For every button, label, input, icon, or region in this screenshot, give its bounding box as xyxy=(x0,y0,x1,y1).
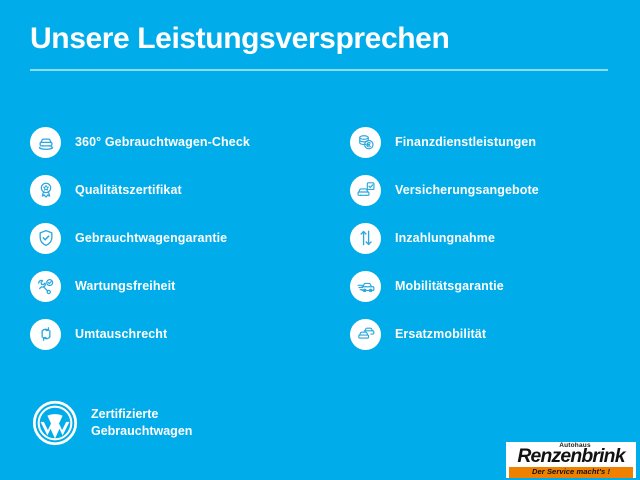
list-item-label: Umtauschrecht xyxy=(75,327,167,341)
promo-banner: Unsere Leistungsversprechen 360° Gebrauc xyxy=(0,0,640,480)
dealer-logo-name: Renzenbrink xyxy=(508,448,634,466)
feature-column-right: Finanzdienstleistungen Versicherungsange… xyxy=(325,118,640,358)
list-item: Wartungsfreiheit xyxy=(30,262,325,310)
car-motion-icon xyxy=(350,271,381,302)
two-cars-icon xyxy=(350,319,381,350)
coins-euro-icon xyxy=(350,127,381,158)
list-item-label: Ersatzmobilität xyxy=(395,327,486,341)
list-item-label: Inzahlungnahme xyxy=(395,231,495,245)
header: Unsere Leistungsversprechen xyxy=(30,22,610,71)
vw-certified-badge: Zertifizierte Gebrauchtwagen xyxy=(32,400,192,446)
wrench-check-icon xyxy=(30,271,61,302)
vw-certified-line1: Zertifizierte xyxy=(91,406,192,423)
vw-certified-text: Zertifizierte Gebrauchtwagen xyxy=(91,406,192,441)
list-item: 360° Gebrauchtwagen-Check xyxy=(30,118,325,166)
dealer-logo-slogan: Der Service macht's ! xyxy=(532,468,610,476)
list-item: Qualitätszertifikat xyxy=(30,166,325,214)
list-item-label: Versicherungsangebote xyxy=(395,183,539,197)
car-clipboard-icon xyxy=(350,175,381,206)
exchange-arrows-icon xyxy=(30,319,61,350)
volkswagen-logo-icon xyxy=(32,400,78,446)
up-down-arrows-icon xyxy=(350,223,381,254)
list-item-label: Qualitätszertifikat xyxy=(75,183,182,197)
shield-check-icon xyxy=(30,223,61,254)
features-section: 360° Gebrauchtwagen-Check Qualitätszerti… xyxy=(0,118,640,358)
list-item-label: Gebrauchtwagengarantie xyxy=(75,231,227,245)
list-item-label: 360° Gebrauchtwagen-Check xyxy=(75,135,250,149)
list-item: Ersatzmobilität xyxy=(350,310,640,358)
list-item-label: Mobilitätsgarantie xyxy=(395,279,504,293)
feature-column-left: 360° Gebrauchtwagen-Check Qualitätszerti… xyxy=(0,118,325,358)
list-item: Umtauschrecht xyxy=(30,310,325,358)
dealer-logo: Autohaus Renzenbrink Der Service macht's… xyxy=(506,442,636,478)
quality-seal-icon xyxy=(30,175,61,206)
title-divider xyxy=(30,69,608,71)
list-item: Inzahlungnahme xyxy=(350,214,640,262)
dealer-logo-slogan-bar: Der Service macht's ! xyxy=(509,467,633,478)
list-item-label: Finanzdienstleistungen xyxy=(395,135,536,149)
page-title: Unsere Leistungsversprechen xyxy=(30,22,610,55)
list-item: Versicherungsangebote xyxy=(350,166,640,214)
list-item: Gebrauchtwagengarantie xyxy=(30,214,325,262)
list-item-label: Wartungsfreiheit xyxy=(75,279,175,293)
car-360-check-icon xyxy=(30,127,61,158)
vw-certified-line2: Gebrauchtwagen xyxy=(91,423,192,440)
list-item: Finanzdienstleistungen xyxy=(350,118,640,166)
list-item: Mobilitätsgarantie xyxy=(350,262,640,310)
